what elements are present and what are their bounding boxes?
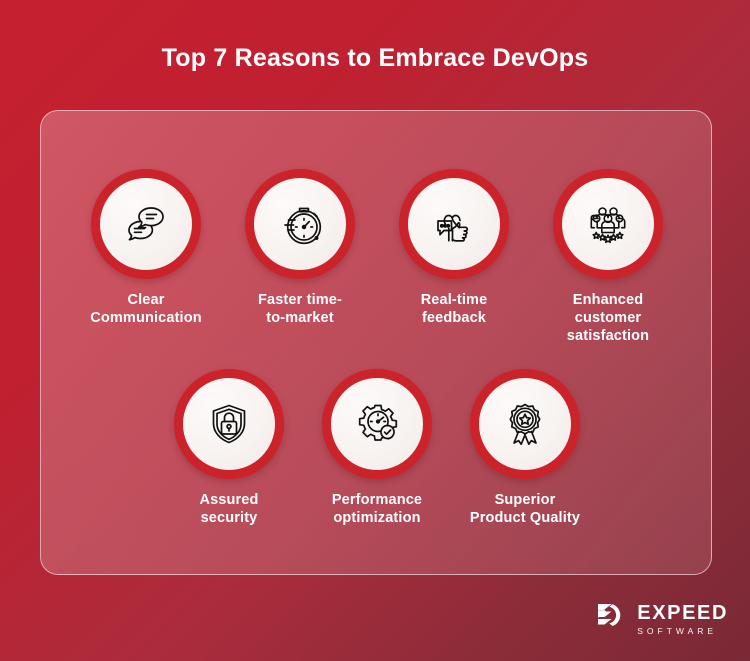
benefit-label-line-2: optimization (312, 510, 442, 528)
content-panel: Clear Communication (40, 110, 712, 575)
benefit-label-line-2: security (164, 510, 294, 528)
icon-disc (183, 378, 275, 470)
chat-bubbles-icon (121, 199, 171, 249)
benefit-item-performance-optimization[interactable]: Performance optimization (321, 369, 433, 528)
benefits-row-2: Assured security (41, 369, 713, 528)
benefit-label-line-2: Product Quality (460, 510, 590, 528)
icon-disc (254, 178, 346, 270)
people-group-stars-icon (583, 199, 633, 249)
gear-gauge-check-icon (352, 399, 402, 449)
benefit-label-line-1: Assured (164, 492, 294, 510)
logo-name: EXPEED (637, 603, 728, 623)
benefit-item-superior-product-quality[interactable]: Superior Product Quality (469, 369, 581, 528)
benefit-label: Faster time- to-market (235, 292, 365, 328)
icon-ring (399, 169, 509, 279)
logo-text: EXPEED SOFTWARE (637, 603, 728, 636)
icon-disc (100, 178, 192, 270)
benefit-label: Real-time feedback (389, 292, 519, 328)
benefit-label: Clear Communication (81, 292, 211, 328)
benefit-label: Assured security (164, 492, 294, 528)
stopwatch-speed-icon (275, 199, 325, 249)
benefit-label-line-2: Communication (81, 310, 211, 328)
benefit-item-assured-security[interactable]: Assured security (173, 369, 285, 528)
benefit-label-line-1: Real-time (389, 292, 519, 310)
benefits-row-1: Clear Communication (41, 169, 713, 345)
feedback-thumbs-up-heart-icon (429, 199, 479, 249)
icon-ring (91, 169, 201, 279)
shield-lock-icon (204, 399, 254, 449)
icon-disc (562, 178, 654, 270)
benefit-label: Superior Product Quality (460, 492, 590, 528)
benefit-label: Performance optimization (312, 492, 442, 528)
brand-logo[interactable]: EXPEED SOFTWARE (594, 600, 728, 639)
icon-disc (408, 178, 500, 270)
benefit-item-enhanced-customer-satisfaction[interactable]: Enhanced customer satisfaction (552, 169, 664, 345)
benefit-label-line-2: feedback (389, 310, 519, 328)
award-rosette-star-icon (500, 399, 550, 449)
page-title: Top 7 Reasons to Embrace DevOps (0, 44, 750, 73)
benefit-label-line-1: Enhanced (543, 292, 673, 310)
benefit-label-line-1: Faster time- (235, 292, 365, 310)
icon-disc (331, 378, 423, 470)
icon-ring (245, 169, 355, 279)
icon-ring (174, 369, 284, 479)
benefit-label-line-2: customer (543, 310, 673, 328)
icon-ring (322, 369, 432, 479)
benefit-label: Enhanced customer satisfaction (543, 292, 673, 345)
icon-disc (479, 378, 571, 470)
benefit-label-line-1: Performance (312, 492, 442, 510)
benefit-label-line-2: to-market (235, 310, 365, 328)
icon-ring (553, 169, 663, 279)
logo-subtitle: SOFTWARE (637, 627, 728, 636)
benefit-item-clear-communication[interactable]: Clear Communication (90, 169, 202, 345)
benefit-label-line-1: Superior (460, 492, 590, 510)
benefit-item-faster-time-to-market[interactable]: Faster time- to-market (244, 169, 356, 345)
benefit-item-real-time-feedback[interactable]: Real-time feedback (398, 169, 510, 345)
benefit-label-line-3: satisfaction (543, 328, 673, 346)
icon-ring (470, 369, 580, 479)
expeed-chevron-stack-icon (594, 600, 628, 639)
benefit-label-line-1: Clear (81, 292, 211, 310)
